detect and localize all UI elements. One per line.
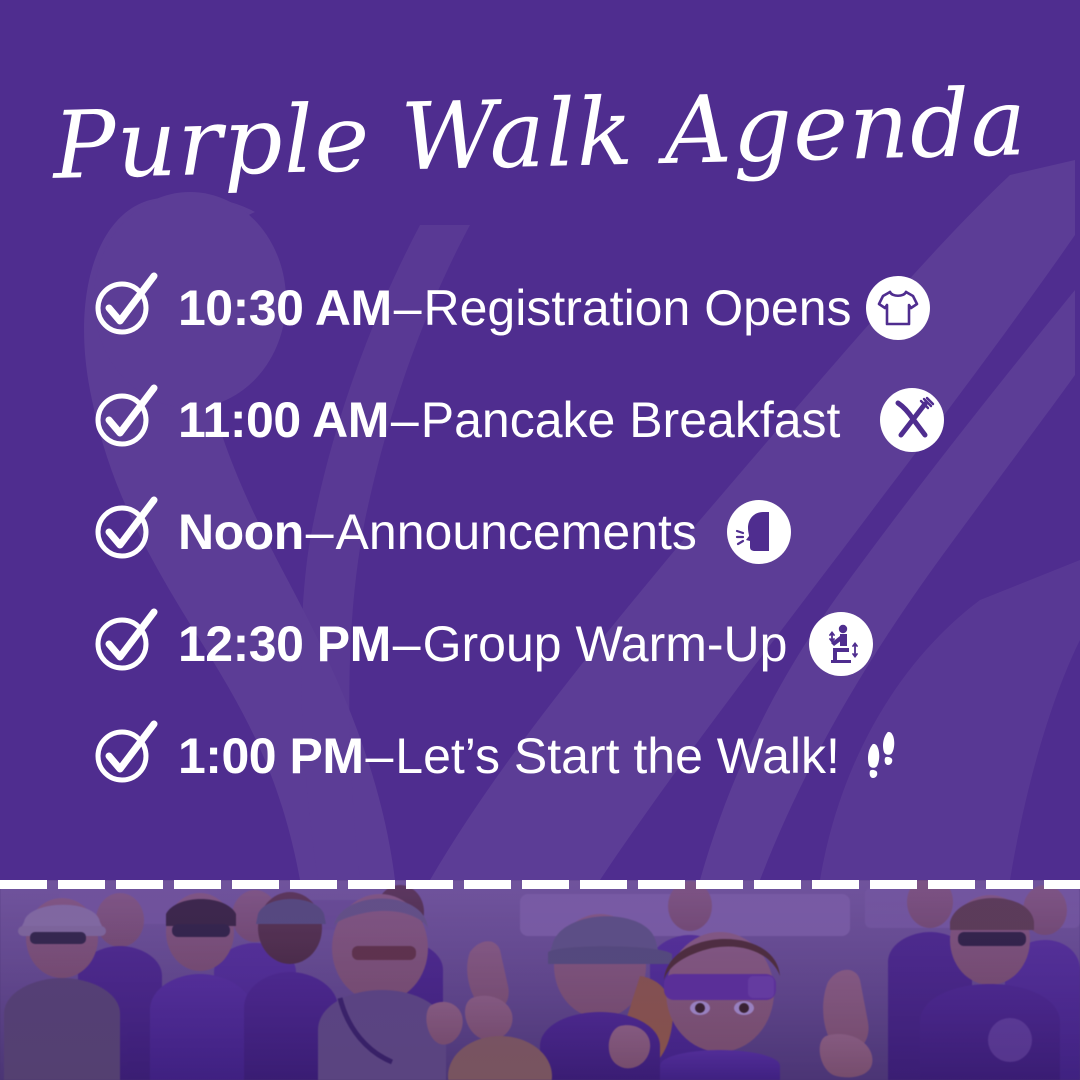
agenda-item-separator: – bbox=[392, 283, 424, 333]
agenda-panel: Purple Walk Agenda 10:30 AM – Registrati… bbox=[0, 0, 1080, 880]
agenda-item-walk-start: 1:00 PM – Let’s Start the Walk! bbox=[0, 700, 1080, 812]
speaking-head-icon bbox=[727, 500, 791, 564]
page-title: Purple Walk Agenda bbox=[0, 75, 1080, 194]
dashed-divider bbox=[0, 880, 1080, 889]
agenda-item-text: 10:30 AM – Registration Opens bbox=[178, 283, 852, 333]
agenda-item-label: Announcements bbox=[336, 507, 697, 557]
agenda-item-text: 12:30 PM – Group Warm-Up bbox=[178, 619, 787, 669]
agenda-item-text: Noon – Announcements bbox=[178, 507, 697, 557]
photo-purple-tint-overlay bbox=[0, 880, 1080, 1080]
agenda-item-separator: – bbox=[363, 731, 395, 781]
agenda-item-time: 1:00 PM bbox=[178, 731, 363, 781]
agenda-item-separator: – bbox=[389, 395, 421, 445]
agenda-item-registration: 10:30 AM – Registration Opens bbox=[0, 252, 1080, 364]
check-circle-icon bbox=[92, 498, 156, 562]
agenda-item-warmup: 12:30 PM – Group Warm-Up bbox=[0, 588, 1080, 700]
check-circle-icon bbox=[92, 722, 156, 786]
agenda-item-text: 1:00 PM – Let’s Start the Walk! bbox=[178, 731, 840, 781]
agenda-item-time: 11:00 AM bbox=[178, 395, 389, 445]
agenda-item-label: Registration Opens bbox=[424, 283, 852, 333]
agenda-item-time: 10:30 AM bbox=[178, 283, 392, 333]
agenda-item-breakfast: 11:00 AM – Pancake Breakfast bbox=[0, 364, 1080, 476]
agenda-item-text: 11:00 AM – Pancake Breakfast bbox=[178, 395, 840, 445]
agenda-item-time: Noon bbox=[178, 507, 304, 557]
check-circle-icon bbox=[92, 274, 156, 338]
agenda-item-time: 12:30 PM bbox=[178, 619, 391, 669]
crowd-photo-band bbox=[0, 880, 1080, 1080]
agenda-list: 10:30 AM – Registration Opens bbox=[0, 252, 1080, 812]
agenda-item-label: Let’s Start the Walk! bbox=[395, 731, 840, 781]
agenda-item-label: Group Warm-Up bbox=[423, 619, 788, 669]
agenda-item-announcements: Noon – Announcements bbox=[0, 476, 1080, 588]
stretching-person-icon bbox=[809, 612, 873, 676]
check-circle-icon bbox=[92, 386, 156, 450]
fork-knife-icon bbox=[880, 388, 944, 452]
check-circle-icon bbox=[92, 610, 156, 674]
tshirt-icon bbox=[866, 276, 930, 340]
purple-walk-agenda-poster: Purple Walk Agenda 10:30 AM – Registrati… bbox=[0, 0, 1080, 1080]
footprints-icon bbox=[854, 724, 918, 788]
agenda-item-separator: – bbox=[304, 507, 336, 557]
agenda-item-label: Pancake Breakfast bbox=[421, 395, 841, 445]
agenda-item-separator: – bbox=[391, 619, 423, 669]
